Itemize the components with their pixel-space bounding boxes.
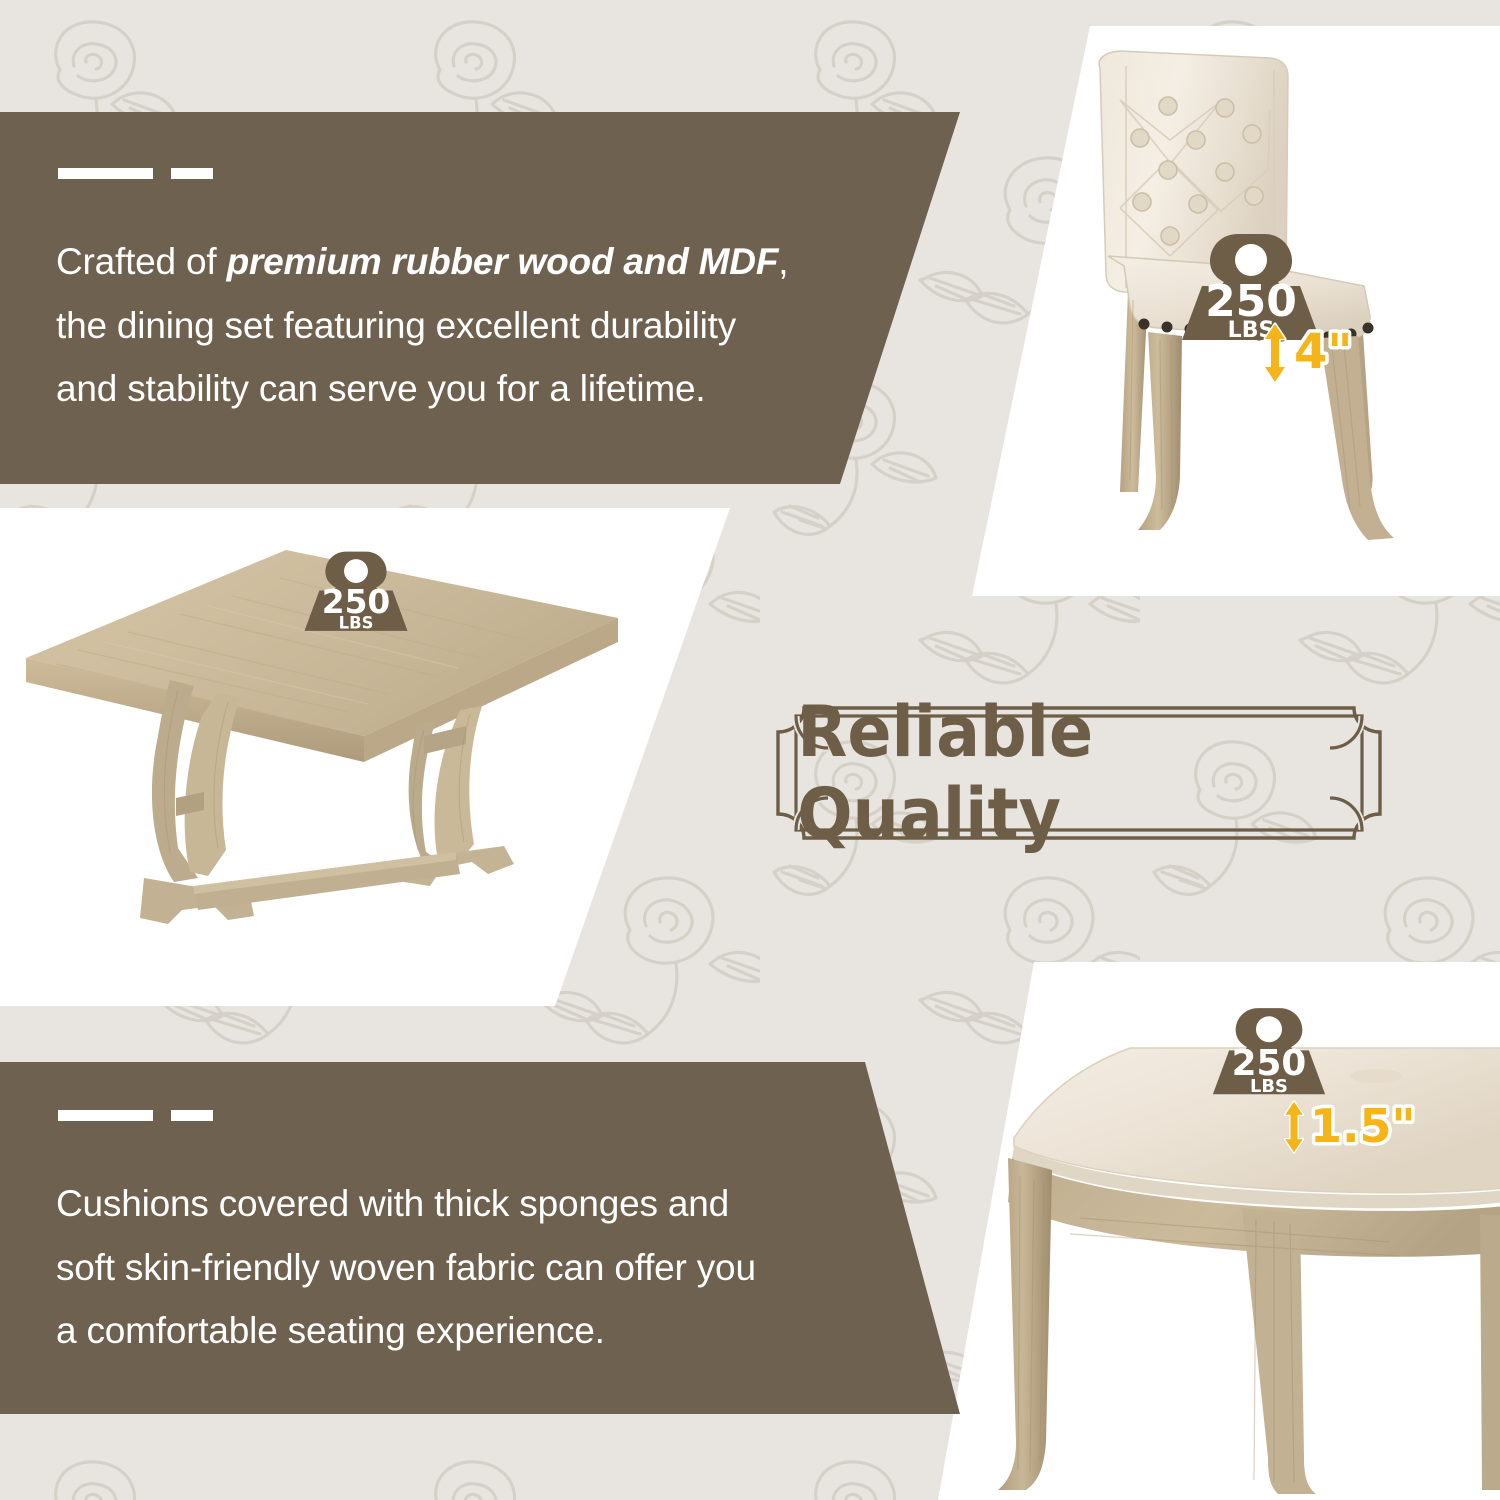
dimension-chair-seat: 4" [1262,322,1362,384]
text-line: Cushions covered with thick sponges and [56,1172,856,1236]
svg-text:LBS: LBS [1250,1076,1288,1097]
cushion-comfort-text: Cushions covered with thick sponges and … [56,1172,856,1363]
dimension-label-chair: 4" [1290,322,1362,384]
reliable-quality-badge: Reliable Quality [776,702,1382,844]
svg-text:LBS: LBS [339,614,374,633]
bottom-accent-dashes [58,1110,213,1121]
svg-text:1.5": 1.5" [1310,1099,1415,1153]
text-line: a comfortable seating experience. [56,1299,856,1363]
text-line: the dining set featuring excellent durab… [56,294,846,358]
dash-short-icon [171,1110,213,1121]
text-line: soft skin-friendly woven fabric can offe… [56,1236,856,1300]
dash-long-icon [58,168,153,179]
reliable-quality-label: Reliable Quality [797,702,1361,844]
weight-badge-bench: 250 LBS [1208,996,1330,1108]
dimension-label-bench: 1.5" [1308,1098,1424,1156]
material-durability-text: Crafted of premium rubber wood and MDF, … [56,230,846,421]
weight-badge-table: 250 LBS [300,538,412,646]
svg-text:4": 4" [1294,324,1352,380]
dimension-bench-cushion: 1.5" [1282,1098,1424,1156]
text-line: and stability can serve you for a lifeti… [56,357,846,421]
double-arrow-icon [1282,1100,1306,1154]
double-arrow-icon [1262,322,1288,384]
dash-short-icon [171,168,213,179]
infographic-canvas: Crafted of premium rubber wood and MDF, … [0,0,1500,1500]
text-line: Crafted of premium rubber wood and MDF, [56,230,846,294]
dash-long-icon [58,1110,153,1121]
top-accent-dashes [58,168,213,179]
